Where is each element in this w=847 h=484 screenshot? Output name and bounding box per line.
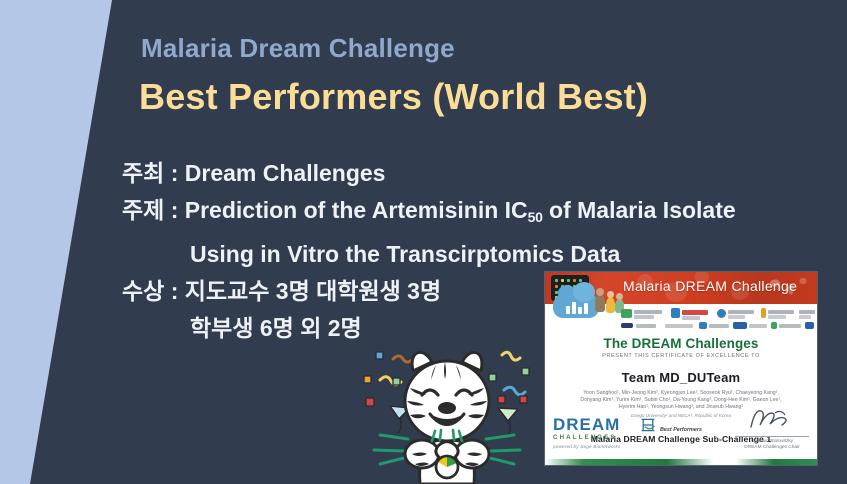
host-label: 주최 : (122, 160, 178, 186)
award-label: 수상 : (122, 278, 178, 304)
topic-row-line1: 주제 : Prediction of the Artemisinin IC50 … (122, 192, 736, 236)
certificate-footer-rule (545, 459, 817, 465)
dream-logo-wordmark: DREAM (553, 416, 620, 433)
certificate-image: Malaria DREAM Challenge (545, 272, 817, 465)
award-value-1: 지도교수 3명 대학원생 3명 (185, 278, 441, 304)
host-value: Dream Challenges (185, 160, 386, 186)
topic-text-post: of Malaria Isolate (543, 197, 736, 223)
signature-rule (735, 436, 809, 437)
certificate-org-title: The DREAM Challenges (545, 336, 817, 351)
signer-title: DREAM Challenges Chair (735, 445, 809, 451)
white-tiger-mascot-illustration (352, 338, 542, 484)
signature-block: Gustavo Stolovitzky DREAM Challenges Cha… (735, 407, 809, 451)
dream-logo-subtext: CHALLENGES (553, 434, 620, 441)
page-eyebrow: Malaria Dream Challenge (141, 33, 455, 64)
certificate-present-line: PRESENT THIS CERTIFICATE OF EXCELLENCE T… (545, 353, 817, 359)
certificate-header-title: Malaria DREAM Challenge (623, 278, 797, 294)
topic-row-line2: Using in Vitro the Transcirptomics Data (122, 236, 736, 273)
dream-challenges-logo: DREAM CHALLENGES powered by Sage Bionetw… (553, 416, 620, 449)
certificate-authors-line-1: Yoon Sanghoo¹, Min-Jeong Kim², Kyeongjun… (545, 390, 817, 397)
ic50-subscript: 50 (528, 209, 543, 225)
topic-label: 주제 : (122, 197, 178, 223)
signature-icon (745, 407, 805, 431)
page-title: Best Performers (World Best) (139, 76, 648, 118)
certificate-authors-line-2: Dohyang Kim¹, Yurim Kim¹, Subin Cho¹, Da… (545, 397, 817, 404)
dream-network-icon (639, 417, 657, 433)
slide-canvas: Malaria Dream Challenge Best Performers … (0, 0, 847, 484)
certificate-team-name: Team MD_DUTeam (545, 370, 817, 385)
dream-logo-powered-by: powered by Sage Bionetworks (553, 444, 620, 449)
host-row: 주최 : Dream Challenges (122, 155, 736, 192)
tiger-medal-icon (436, 456, 458, 478)
topic-text-pre: Prediction of the Artemisinin IC (185, 197, 528, 223)
tiger-head (405, 352, 489, 441)
